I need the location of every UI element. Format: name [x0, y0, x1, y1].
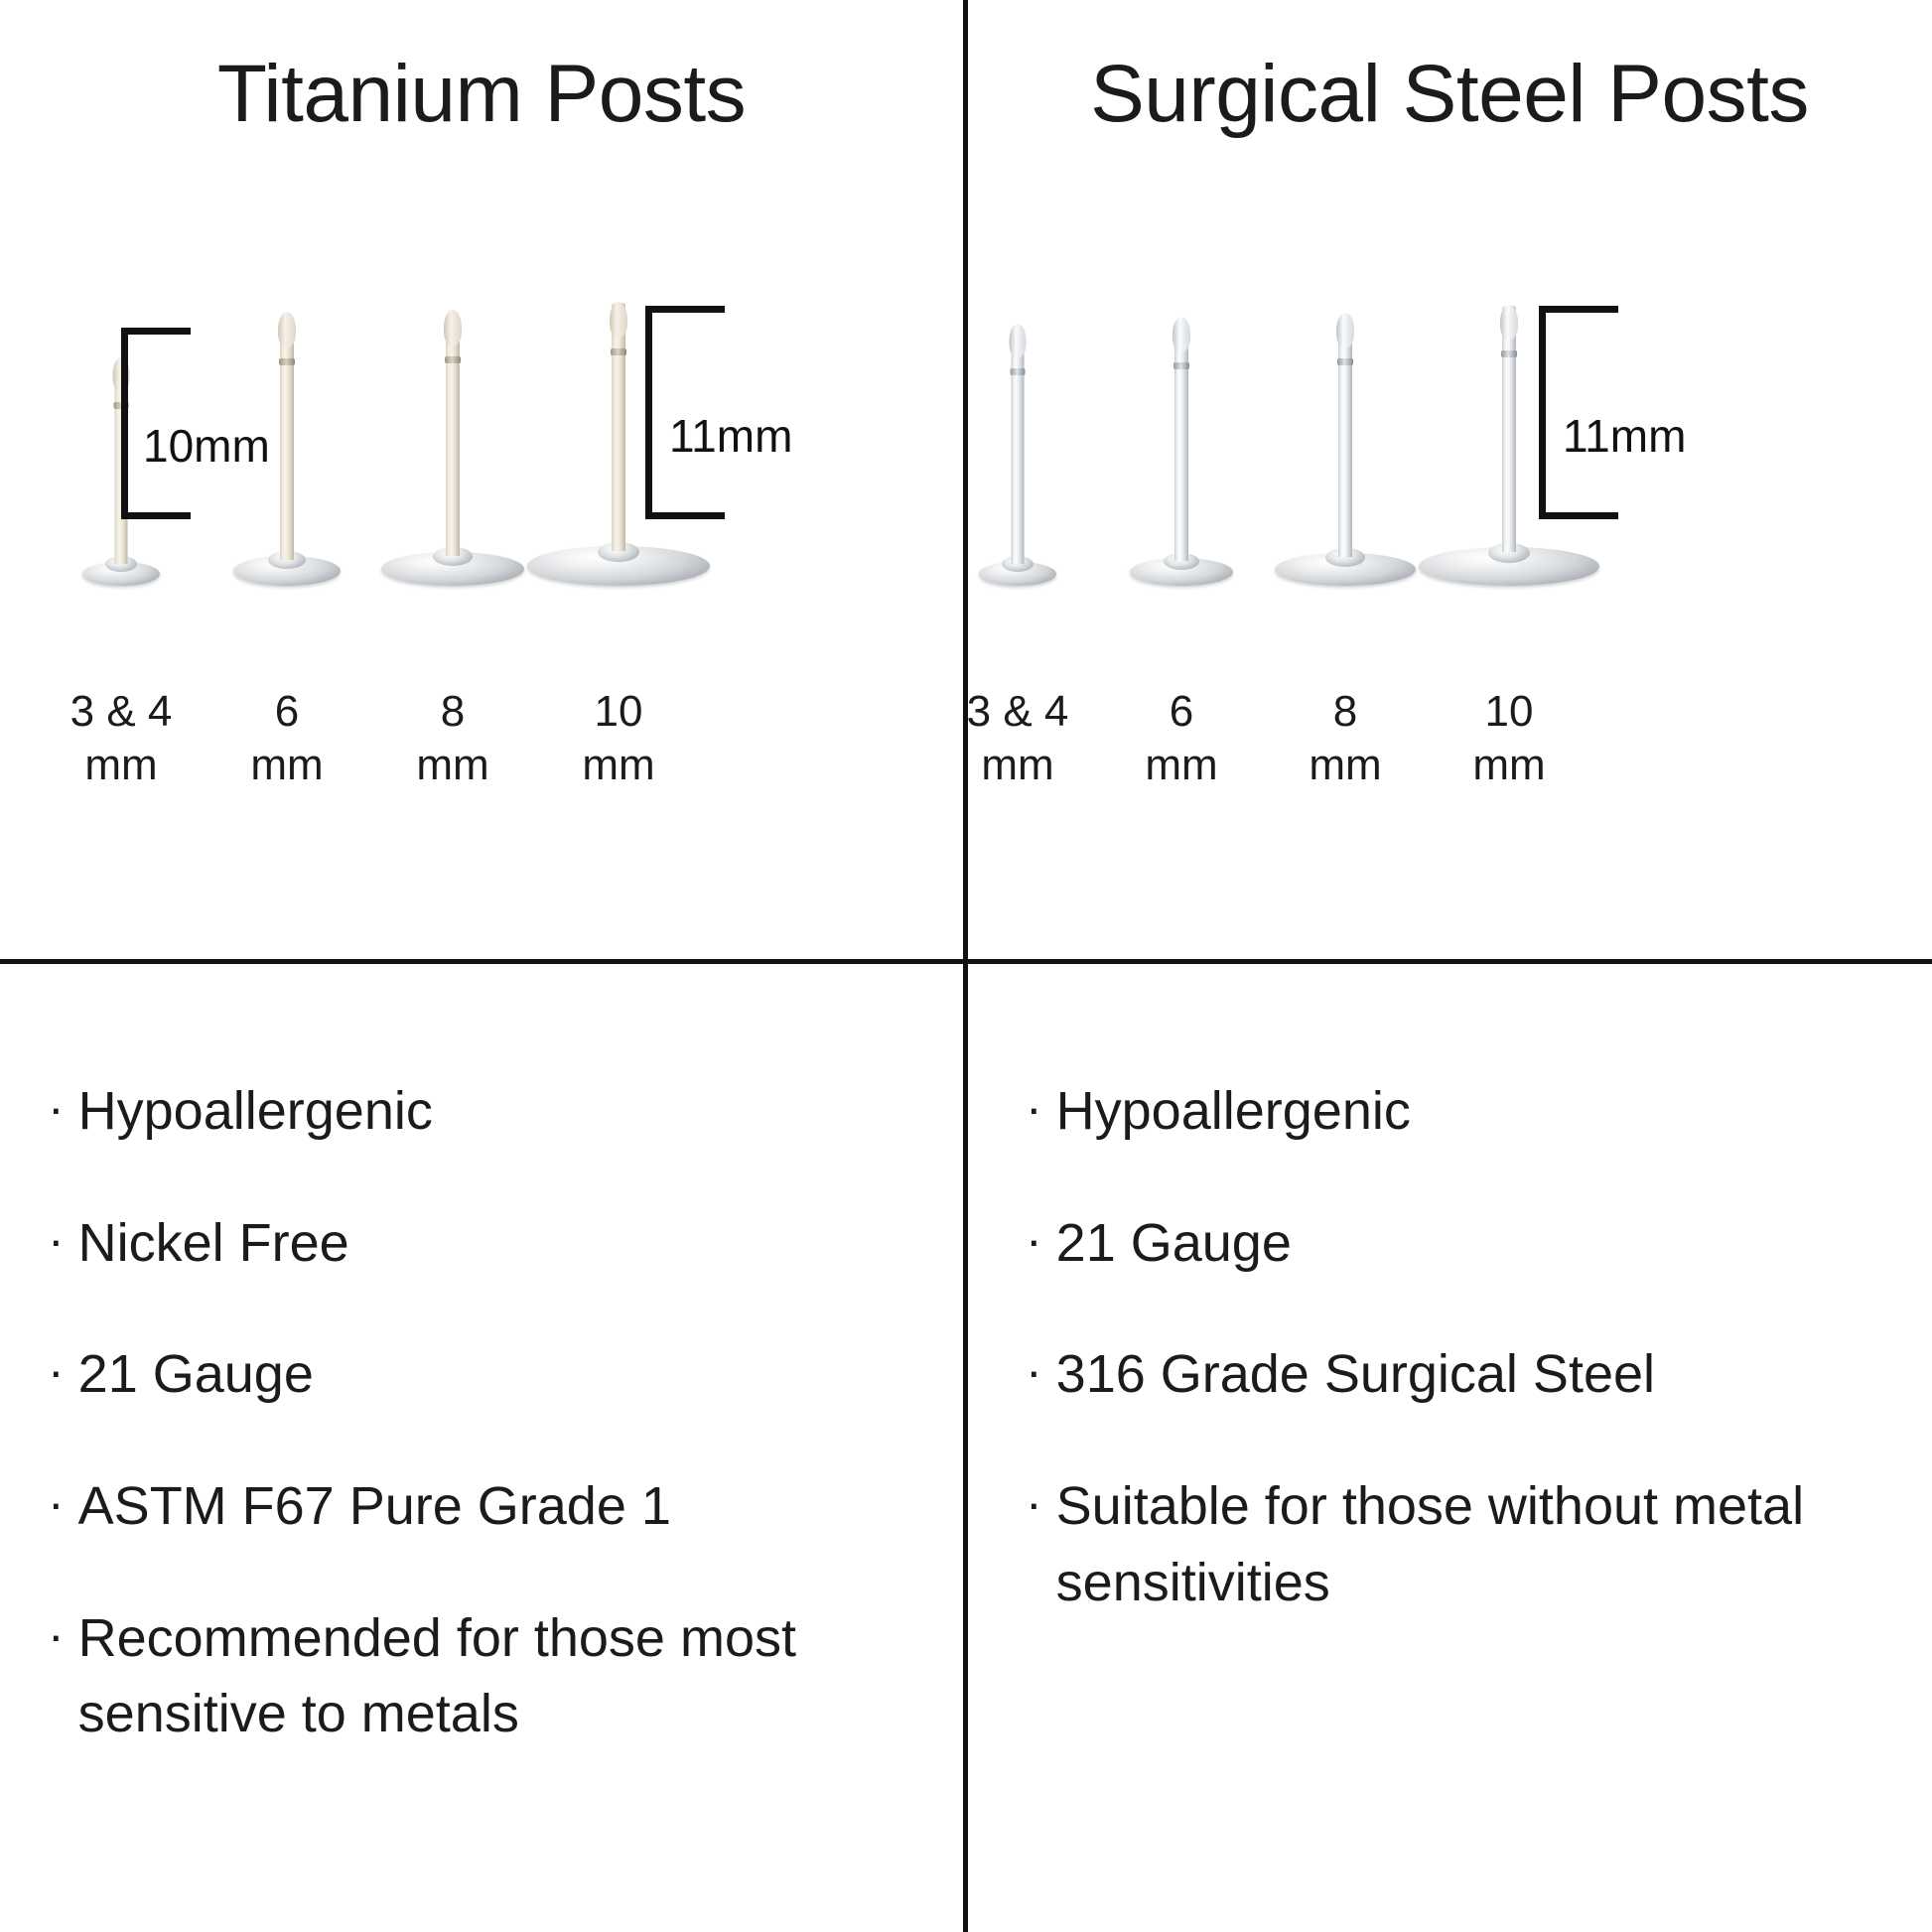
feature-text: 21 Gauge	[78, 1336, 314, 1413]
measurement-label-10mm: 10mm	[143, 423, 270, 469]
bullet-icon: ·	[1026, 1073, 1042, 1144]
feature-item: · Hypoallergenic	[1026, 1073, 1891, 1150]
measurement-label-11mm: 11mm	[1563, 413, 1686, 459]
feature-text: Nickel Free	[78, 1205, 349, 1282]
feature-item: · 21 Gauge	[48, 1336, 923, 1413]
bullet-icon: ·	[48, 1073, 65, 1144]
post-tip	[1336, 313, 1354, 347]
size-value: 10	[595, 687, 643, 736]
measurement-bracket-11mm: 11mm	[1539, 306, 1618, 519]
post-collar	[1501, 350, 1517, 357]
size-unit: mm	[198, 739, 376, 792]
size-value: 8	[1333, 687, 1357, 736]
feature-item: · 316 Grade Surgical Steel	[1026, 1336, 1891, 1413]
post-tip	[1010, 324, 1027, 357]
post-diagram-titanium: 10mm 11mm	[0, 288, 963, 586]
size-value: 3 & 4	[70, 687, 173, 736]
size-label: 3 & 4 mm	[32, 685, 210, 791]
post-tip	[1500, 305, 1518, 340]
measurement-bracket-11mm: 11mm	[645, 306, 725, 519]
size-unit: mm	[363, 739, 542, 792]
post-collar	[611, 348, 626, 355]
bracket-cap-bottom	[1539, 512, 1618, 519]
feature-text: 21 Gauge	[1056, 1205, 1292, 1282]
post-shaft	[1174, 325, 1188, 561]
feature-text: Hypoallergenic	[1056, 1073, 1411, 1150]
bullet-icon: ·	[48, 1336, 65, 1407]
panel-title-titanium: Titanium Posts	[0, 48, 963, 141]
bullet-icon: ·	[1026, 1468, 1042, 1539]
measurement-label-11mm: 11mm	[669, 413, 792, 459]
panel-titanium: Titanium Posts	[0, 0, 963, 959]
post-collar	[445, 356, 461, 363]
post-titanium-8mm	[363, 288, 542, 586]
horizontal-divider	[0, 959, 1932, 964]
bracket-cap-bottom	[121, 512, 191, 519]
bracket-stem	[645, 306, 652, 519]
size-label: 8 mm	[1256, 685, 1435, 791]
feature-item: · 21 Gauge	[1026, 1205, 1891, 1282]
feature-text: Hypoallergenic	[78, 1073, 433, 1150]
post-tip	[610, 302, 627, 338]
bullet-icon: ·	[1026, 1205, 1042, 1276]
feature-item: · Suitable for those without metal sensi…	[1026, 1468, 1891, 1620]
feature-list-surgical-steel: · Hypoallergenic · 21 Gauge · 316 Grade …	[968, 964, 1931, 1932]
post-tip	[444, 310, 462, 345]
size-label: 10 mm	[1420, 685, 1598, 791]
comparison-infographic: Titanium Posts	[0, 0, 1932, 1932]
size-value: 3 & 4	[967, 687, 1069, 736]
panel-title-surgical-steel: Surgical Steel Posts	[968, 48, 1931, 141]
size-label: 3 & 4 mm	[928, 685, 1107, 791]
size-value: 8	[441, 687, 465, 736]
size-value: 10	[1485, 687, 1534, 736]
bracket-stem	[121, 328, 128, 519]
post-steel-3-4mm	[928, 288, 1107, 586]
size-labels-titanium: 3 & 4 mm 6 mm 8 mm 10 mm	[0, 685, 963, 824]
feature-item: · Recommended for those most sensitive t…	[48, 1600, 923, 1752]
bracket-cap-top	[1539, 306, 1618, 313]
bullet-icon: ·	[48, 1468, 65, 1539]
size-value: 6	[275, 687, 299, 736]
size-unit: mm	[32, 739, 210, 792]
size-label: 10 mm	[529, 685, 708, 791]
size-value: 6	[1170, 687, 1193, 736]
feature-item: · Nickel Free	[48, 1205, 923, 1282]
size-label: 8 mm	[363, 685, 542, 791]
feature-list-titanium: · Hypoallergenic · Nickel Free · 21 Gaug…	[0, 964, 963, 1932]
post-steel-6mm	[1092, 288, 1271, 586]
post-collar	[1337, 358, 1353, 365]
post-tip	[1173, 317, 1190, 351]
size-label: 6 mm	[1092, 685, 1271, 791]
feature-text: ASTM F67 Pure Grade 1	[78, 1468, 671, 1545]
size-labels-surgical-steel: 3 & 4 mm 6 mm 8 mm 10 mm	[968, 685, 1931, 824]
feature-text: Recommended for those most sensitive to …	[78, 1600, 863, 1752]
panel-surgical-steel: Surgical Steel Posts	[968, 0, 1931, 959]
post-collar	[279, 358, 295, 365]
post-shaft	[1338, 319, 1352, 557]
bracket-cap-top	[121, 328, 191, 335]
bracket-stem	[1539, 306, 1546, 519]
bracket-cap-bottom	[645, 512, 725, 519]
bullet-icon: ·	[48, 1600, 65, 1671]
post-steel-8mm	[1256, 288, 1435, 586]
post-diagram-surgical-steel: 11mm	[968, 288, 1931, 586]
post-shaft	[280, 320, 294, 560]
post-collar	[1011, 368, 1026, 375]
post-shaft	[1502, 306, 1516, 552]
feature-text: 316 Grade Surgical Steel	[1056, 1336, 1655, 1413]
size-unit: mm	[1256, 739, 1435, 792]
measurement-bracket-10mm: 10mm	[121, 328, 191, 519]
feature-item: · Hypoallergenic	[48, 1073, 923, 1150]
size-label: 6 mm	[198, 685, 376, 791]
size-unit: mm	[529, 739, 708, 792]
size-unit: mm	[1092, 739, 1271, 792]
bullet-icon: ·	[1026, 1336, 1042, 1407]
post-tip	[278, 312, 296, 347]
post-collar	[1173, 362, 1189, 369]
size-unit: mm	[928, 739, 1107, 792]
size-unit: mm	[1420, 739, 1598, 792]
bullet-icon: ·	[48, 1205, 65, 1276]
feature-text: Suitable for those without metal sensiti…	[1056, 1468, 1841, 1620]
post-shaft	[446, 316, 460, 556]
bracket-cap-top	[645, 306, 725, 313]
post-shaft	[612, 303, 625, 551]
feature-item: · ASTM F67 Pure Grade 1	[48, 1468, 923, 1545]
vertical-divider	[963, 0, 968, 1932]
